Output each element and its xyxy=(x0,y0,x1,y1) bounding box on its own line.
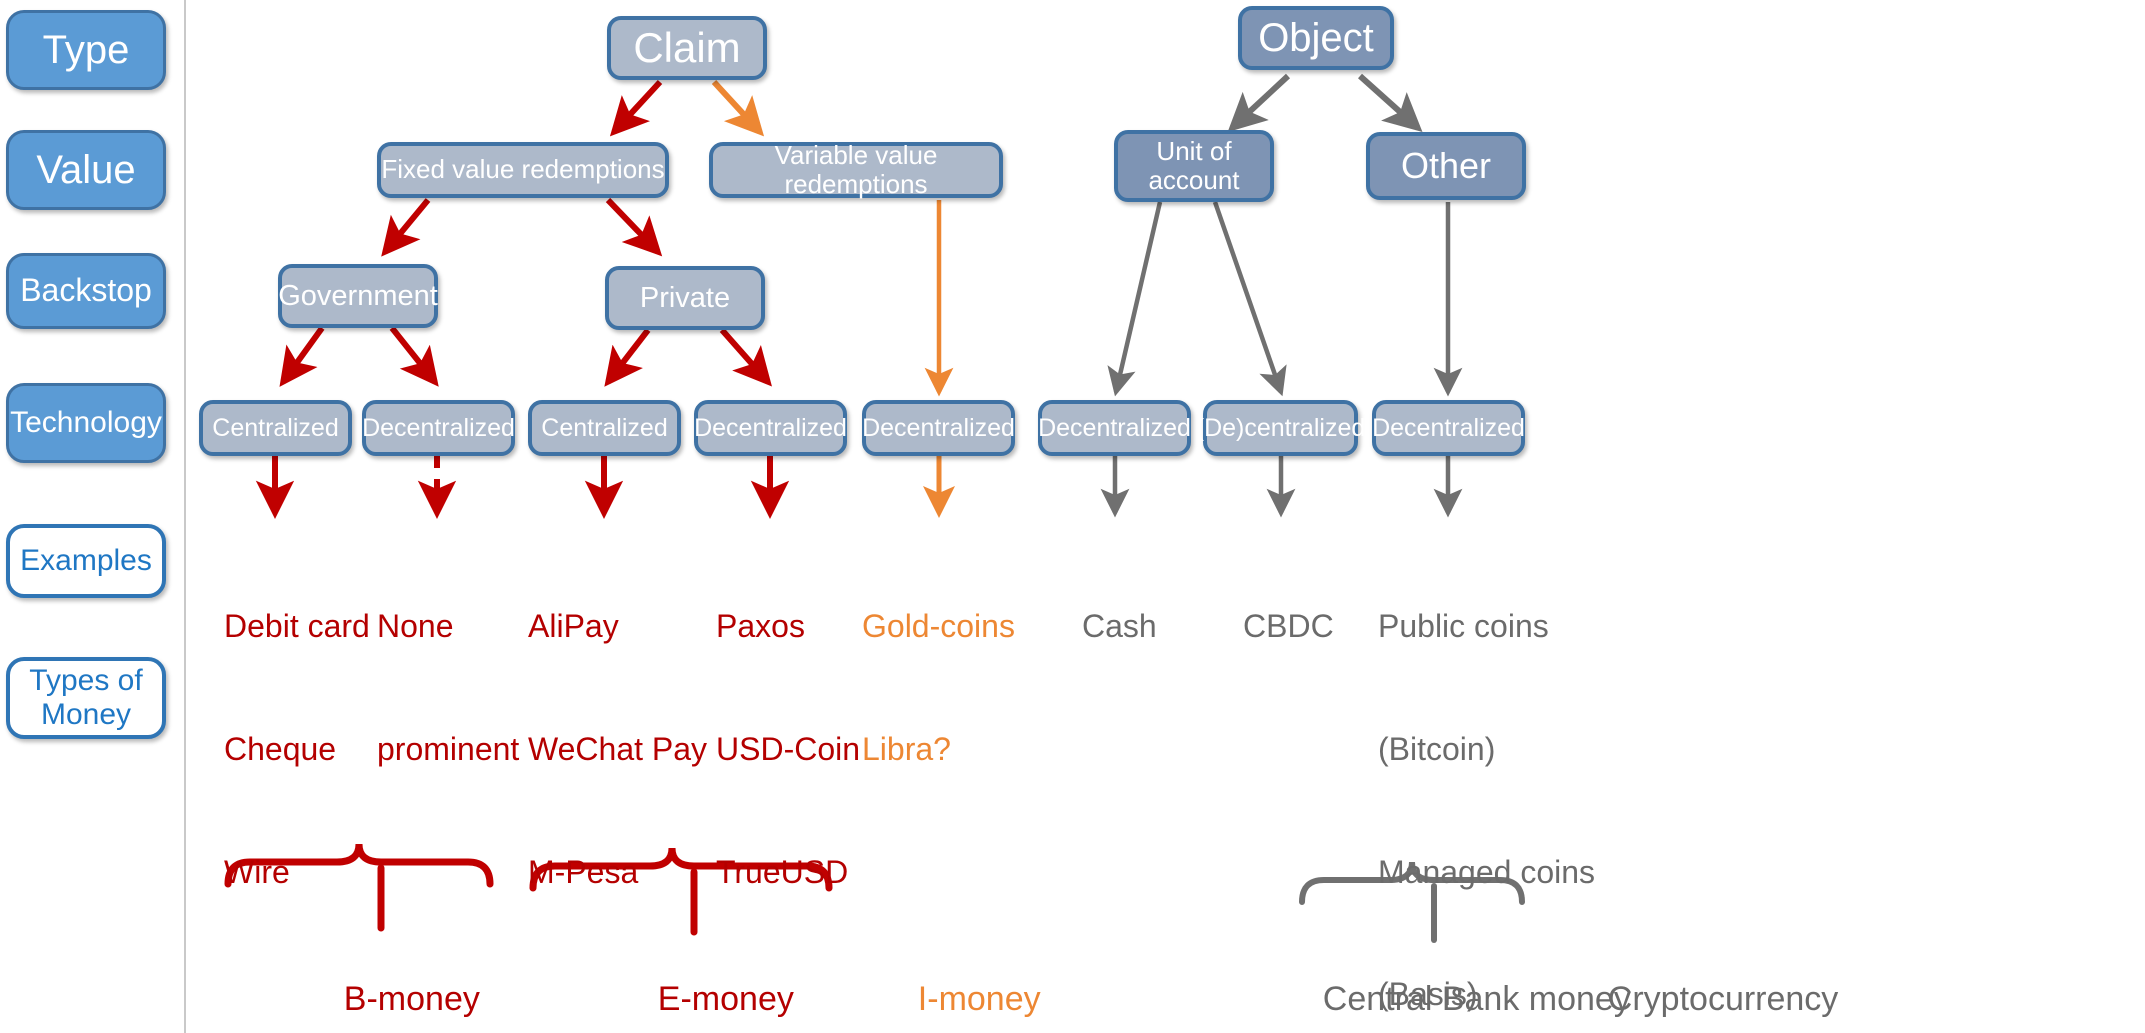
node-private[interactable]: Private xyxy=(605,266,765,330)
rail-item-types-of-money-line1: Types of xyxy=(29,664,142,698)
edge-claim-to-variable xyxy=(714,82,760,132)
node-claim-label: Claim xyxy=(633,24,740,71)
node-tech-decentralized-other-label: Decentralized xyxy=(1372,414,1525,442)
edge-unit-to-tech6 xyxy=(1116,202,1160,392)
node-object-label: Object xyxy=(1258,16,1374,61)
money-type-i-money: I-money xyxy=(880,934,1041,1033)
rail-item-types-of-money[interactable]: Types of Money xyxy=(6,657,166,739)
node-tech-decentralized-variable-label: Decentralized xyxy=(862,414,1015,442)
rail-item-backstop-label: Backstop xyxy=(20,273,152,309)
node-tech-decentralized-unit-label: Decentralized xyxy=(1038,414,1191,442)
edge-claim-to-fixed xyxy=(614,82,660,132)
node-other-label: Other xyxy=(1401,146,1491,186)
examples-line: (Bitcoin) xyxy=(1378,729,1595,770)
examples-line: USD-Coin xyxy=(716,729,860,770)
examples-line: CBDC xyxy=(1243,606,1334,647)
examples-line: Libra? xyxy=(862,729,1015,770)
node-unit-of-account-line2: account xyxy=(1148,166,1239,195)
node-tech-decentralized-gov[interactable]: Decentralized xyxy=(362,400,515,456)
examples-line: Paxos xyxy=(716,606,860,647)
node-tech-centralized-priv-label: Centralized xyxy=(541,414,667,442)
examples-col-alipay: AliPay WeChat Pay M-Pesa xyxy=(528,524,707,974)
node-government-label: Government xyxy=(278,280,438,312)
examples-line: TrueUSD xyxy=(716,852,860,893)
examples-col-debit-card: Debit card Cheque Wire xyxy=(224,524,370,974)
node-fixed-value-redemptions[interactable]: Fixed value redemptions xyxy=(377,142,669,198)
node-claim[interactable]: Claim xyxy=(607,16,767,80)
rail-item-type-label: Type xyxy=(43,28,130,73)
node-fixed-value-redemptions-label: Fixed value redemptions xyxy=(381,155,664,184)
edge-private-to-tech3 xyxy=(608,330,648,382)
edge-government-to-tech2 xyxy=(392,328,435,382)
examples-line: AliPay xyxy=(528,606,707,647)
rail-item-type[interactable]: Type xyxy=(6,10,166,90)
money-type-b-money-label: B-money xyxy=(344,980,480,1018)
node-tech-decentralized-priv-label: Decentralized xyxy=(694,414,847,442)
money-type-cryptocurrency-label: Cryptocurrency xyxy=(1608,980,1839,1018)
node-tech-decentralized-gov-label: Decentralized xyxy=(362,414,515,442)
examples-line: Cheque xyxy=(224,729,370,770)
examples-line: M-Pesa xyxy=(528,852,707,893)
examples-col-paxos: Paxos USD-Coin TrueUSD xyxy=(716,524,860,974)
node-government[interactable]: Government xyxy=(278,264,438,328)
examples-line: Debit card xyxy=(224,606,370,647)
rail-item-value[interactable]: Value xyxy=(6,130,166,210)
examples-line: Managed coins xyxy=(1378,852,1595,893)
node-other[interactable]: Other xyxy=(1366,132,1526,200)
node-object[interactable]: Object xyxy=(1238,6,1394,70)
examples-line: Cash xyxy=(1082,606,1157,647)
examples-col-cash: Cash xyxy=(1082,524,1157,729)
money-type-e-money: E-money xyxy=(620,934,794,1033)
rail-divider xyxy=(184,0,186,1033)
rail-item-examples-label: Examples xyxy=(20,544,152,578)
edge-fixed-to-government xyxy=(385,200,428,252)
examples-line: Wire xyxy=(224,852,370,893)
node-private-label: Private xyxy=(640,282,730,314)
rail-item-technology-label: Technology xyxy=(10,406,162,440)
node-unit-of-account-line1: Unit of xyxy=(1156,137,1231,166)
node-tech-decentralized-variable[interactable]: Decentralized xyxy=(862,400,1015,456)
node-tech-decentralized-priv[interactable]: Decentralized xyxy=(694,400,847,456)
rail-item-value-label: Value xyxy=(36,148,135,193)
node-variable-value-redemptions-label: Variable value redemptions xyxy=(713,141,999,199)
examples-col-none-prominent: None prominent xyxy=(377,524,519,852)
edge-fixed-to-private xyxy=(608,200,658,252)
money-type-b-money: B-money xyxy=(306,934,480,1033)
edge-government-to-tech1 xyxy=(283,328,322,382)
rail-item-examples[interactable]: Examples xyxy=(6,524,166,598)
edge-object-to-other xyxy=(1360,76,1418,128)
edge-unit-to-tech7 xyxy=(1215,202,1281,392)
examples-line: None xyxy=(377,606,519,647)
examples-line: prominent xyxy=(377,729,519,770)
money-type-e-money-label: E-money xyxy=(658,980,794,1018)
examples-line: Public coins xyxy=(1378,606,1595,647)
money-type-cryptocurrency: Cryptocurrency xyxy=(1570,934,1838,1033)
node-tech-de-centralized-unit[interactable]: (De)centralized xyxy=(1203,400,1358,456)
edge-object-to-unit xyxy=(1232,76,1288,128)
examples-line: WeChat Pay xyxy=(528,729,707,770)
node-tech-decentralized-other[interactable]: Decentralized xyxy=(1372,400,1525,456)
node-tech-centralized-priv[interactable]: Centralized xyxy=(528,400,681,456)
examples-col-cbdc: CBDC xyxy=(1243,524,1334,729)
node-tech-centralized-gov-label: Centralized xyxy=(212,414,338,442)
node-variable-value-redemptions[interactable]: Variable value redemptions xyxy=(709,142,1003,198)
examples-col-gold-coins: Gold-coins Libra? xyxy=(862,524,1015,852)
node-unit-of-account[interactable]: Unit of account xyxy=(1114,130,1274,202)
examples-line: Gold-coins xyxy=(862,606,1015,647)
rail-item-technology[interactable]: Technology xyxy=(6,383,166,463)
edge-private-to-tech4 xyxy=(722,330,768,382)
rail-item-backstop[interactable]: Backstop xyxy=(6,253,166,329)
node-tech-centralized-gov[interactable]: Centralized xyxy=(199,400,352,456)
node-tech-decentralized-unit[interactable]: Decentralized xyxy=(1038,400,1191,456)
money-type-i-money-label: I-money xyxy=(918,980,1041,1018)
node-tech-de-centralized-unit-label: (De)centralized xyxy=(1196,414,1366,442)
diagram-canvas: Type Value Backstop Technology Examples … xyxy=(0,0,2145,1033)
rail-item-types-of-money-line2: Money xyxy=(41,698,131,732)
